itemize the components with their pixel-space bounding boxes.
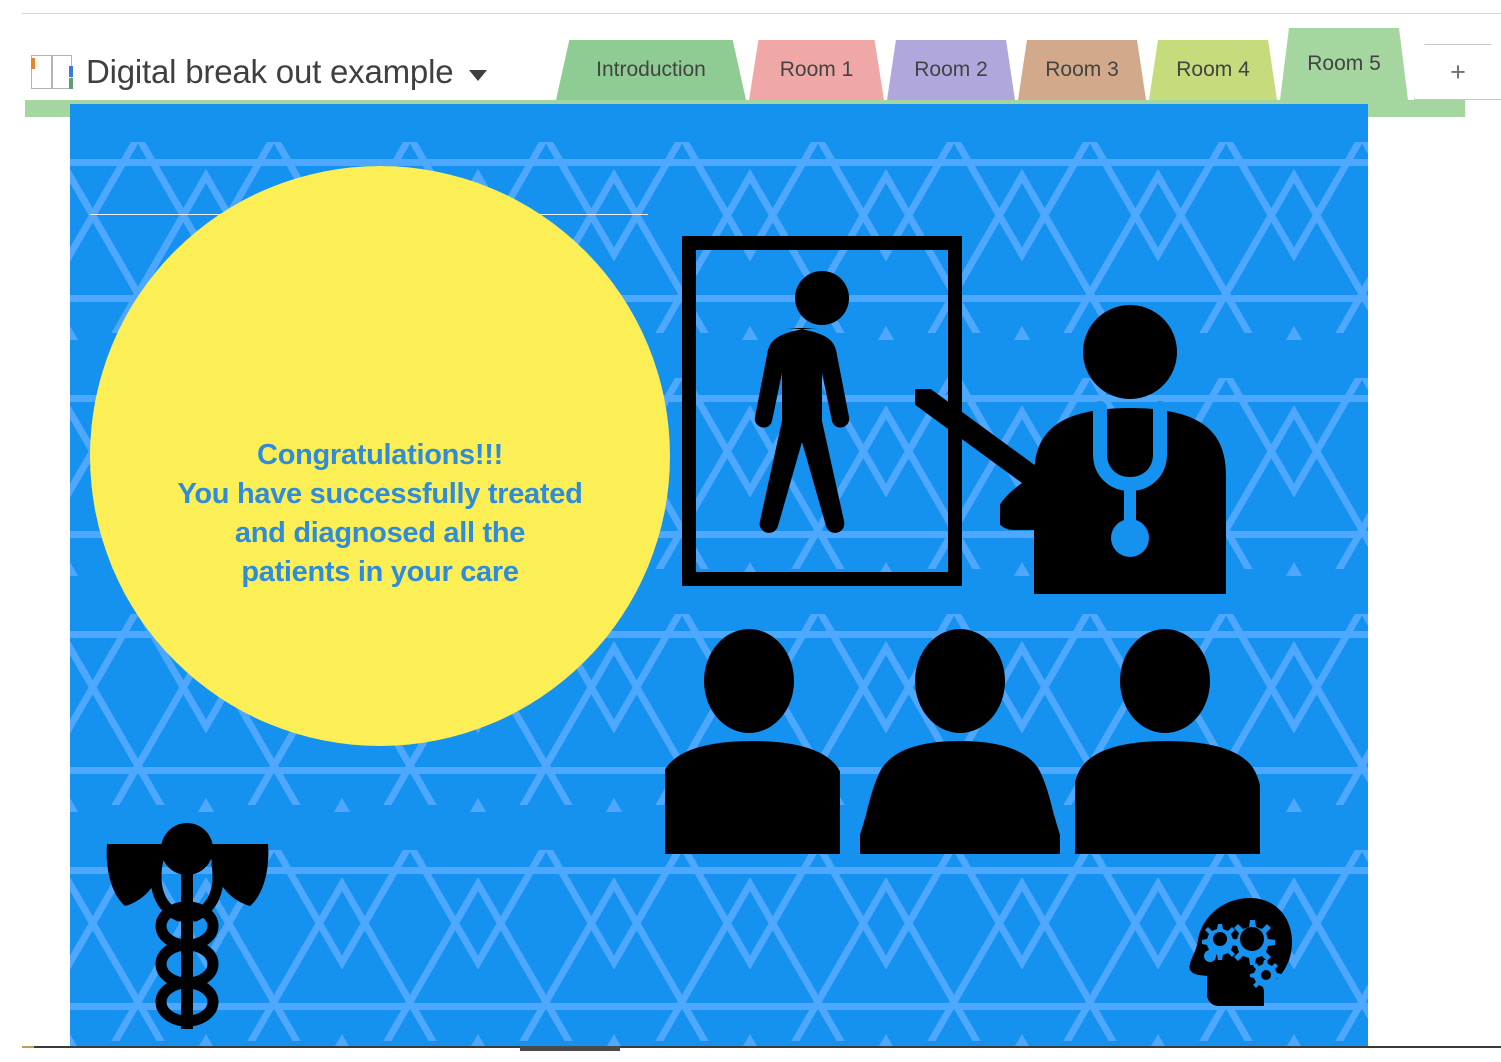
horizontal-scrollbar-thumb[interactable] <box>520 1046 620 1051</box>
tab-label: Room 1 <box>780 58 854 82</box>
caduceus-icon <box>105 816 270 1031</box>
document-title-block[interactable]: Digital break out example <box>30 46 487 98</box>
tab-label: Room 2 <box>914 58 988 82</box>
tab-label: Room 3 <box>1045 58 1119 82</box>
bottom-divider <box>22 1046 1501 1048</box>
pictogram-layer <box>70 104 1368 1046</box>
slide-canvas[interactable]: Congratulations!!! You have successfully… <box>70 104 1368 1046</box>
tab-introduction[interactable]: Introduction <box>556 40 746 100</box>
scrollbar-track-end <box>22 1046 34 1048</box>
audience-figure-right <box>1075 629 1260 854</box>
patient-figure-pictogram <box>755 271 849 533</box>
add-tab-button[interactable]: + <box>1414 44 1501 100</box>
tab-strip: Digital break out example Introduction R… <box>0 14 1501 104</box>
tab-room-1[interactable]: Room 1 <box>749 40 884 100</box>
chevron-down-icon[interactable] <box>469 70 487 81</box>
tab-label: Room 5 <box>1307 52 1381 76</box>
slides-editor-window: Digital break out example Introduction R… <box>0 0 1501 1062</box>
doctor-figure-pictogram <box>1000 304 1230 594</box>
tab-room-2[interactable]: Room 2 <box>887 40 1015 100</box>
head-with-gears-icon <box>1188 894 1303 1009</box>
page-title: Digital break out example <box>86 53 453 91</box>
audience-figure-left <box>665 629 840 854</box>
plus-icon: + <box>1450 57 1466 88</box>
open-book-icon <box>30 53 76 91</box>
tab-label: Introduction <box>596 58 706 82</box>
window-bottom-chrome <box>0 1046 1501 1062</box>
audience-figure-center <box>860 629 1060 854</box>
tab-room-5[interactable]: Room 5 <box>1280 28 1408 100</box>
tab-room-3[interactable]: Room 3 <box>1018 40 1146 100</box>
tab-label: Room 4 <box>1176 58 1250 82</box>
tab-room-4[interactable]: Room 4 <box>1149 40 1277 100</box>
